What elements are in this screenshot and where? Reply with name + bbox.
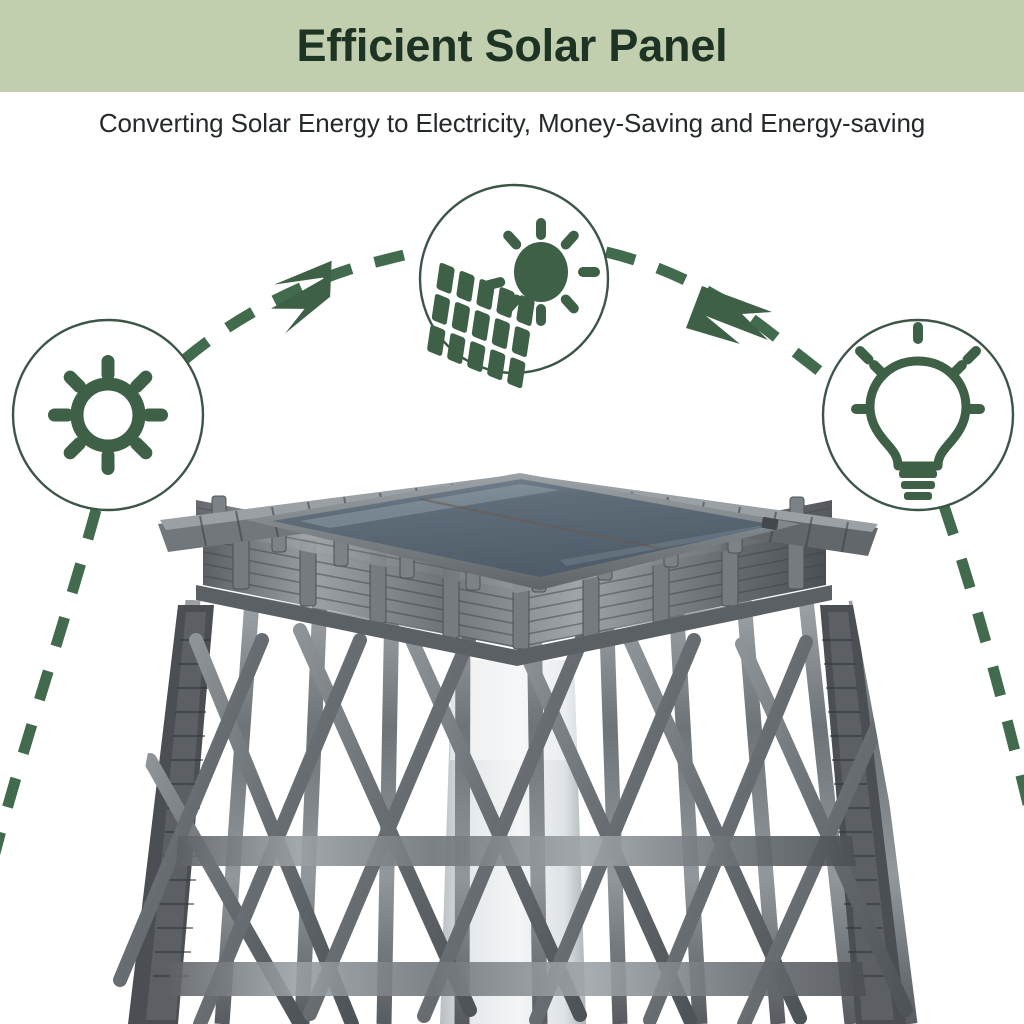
infographic-page: Efficient Solar Panel Converting Solar E… bbox=[0, 0, 1024, 1024]
product-image bbox=[0, 0, 1024, 1024]
